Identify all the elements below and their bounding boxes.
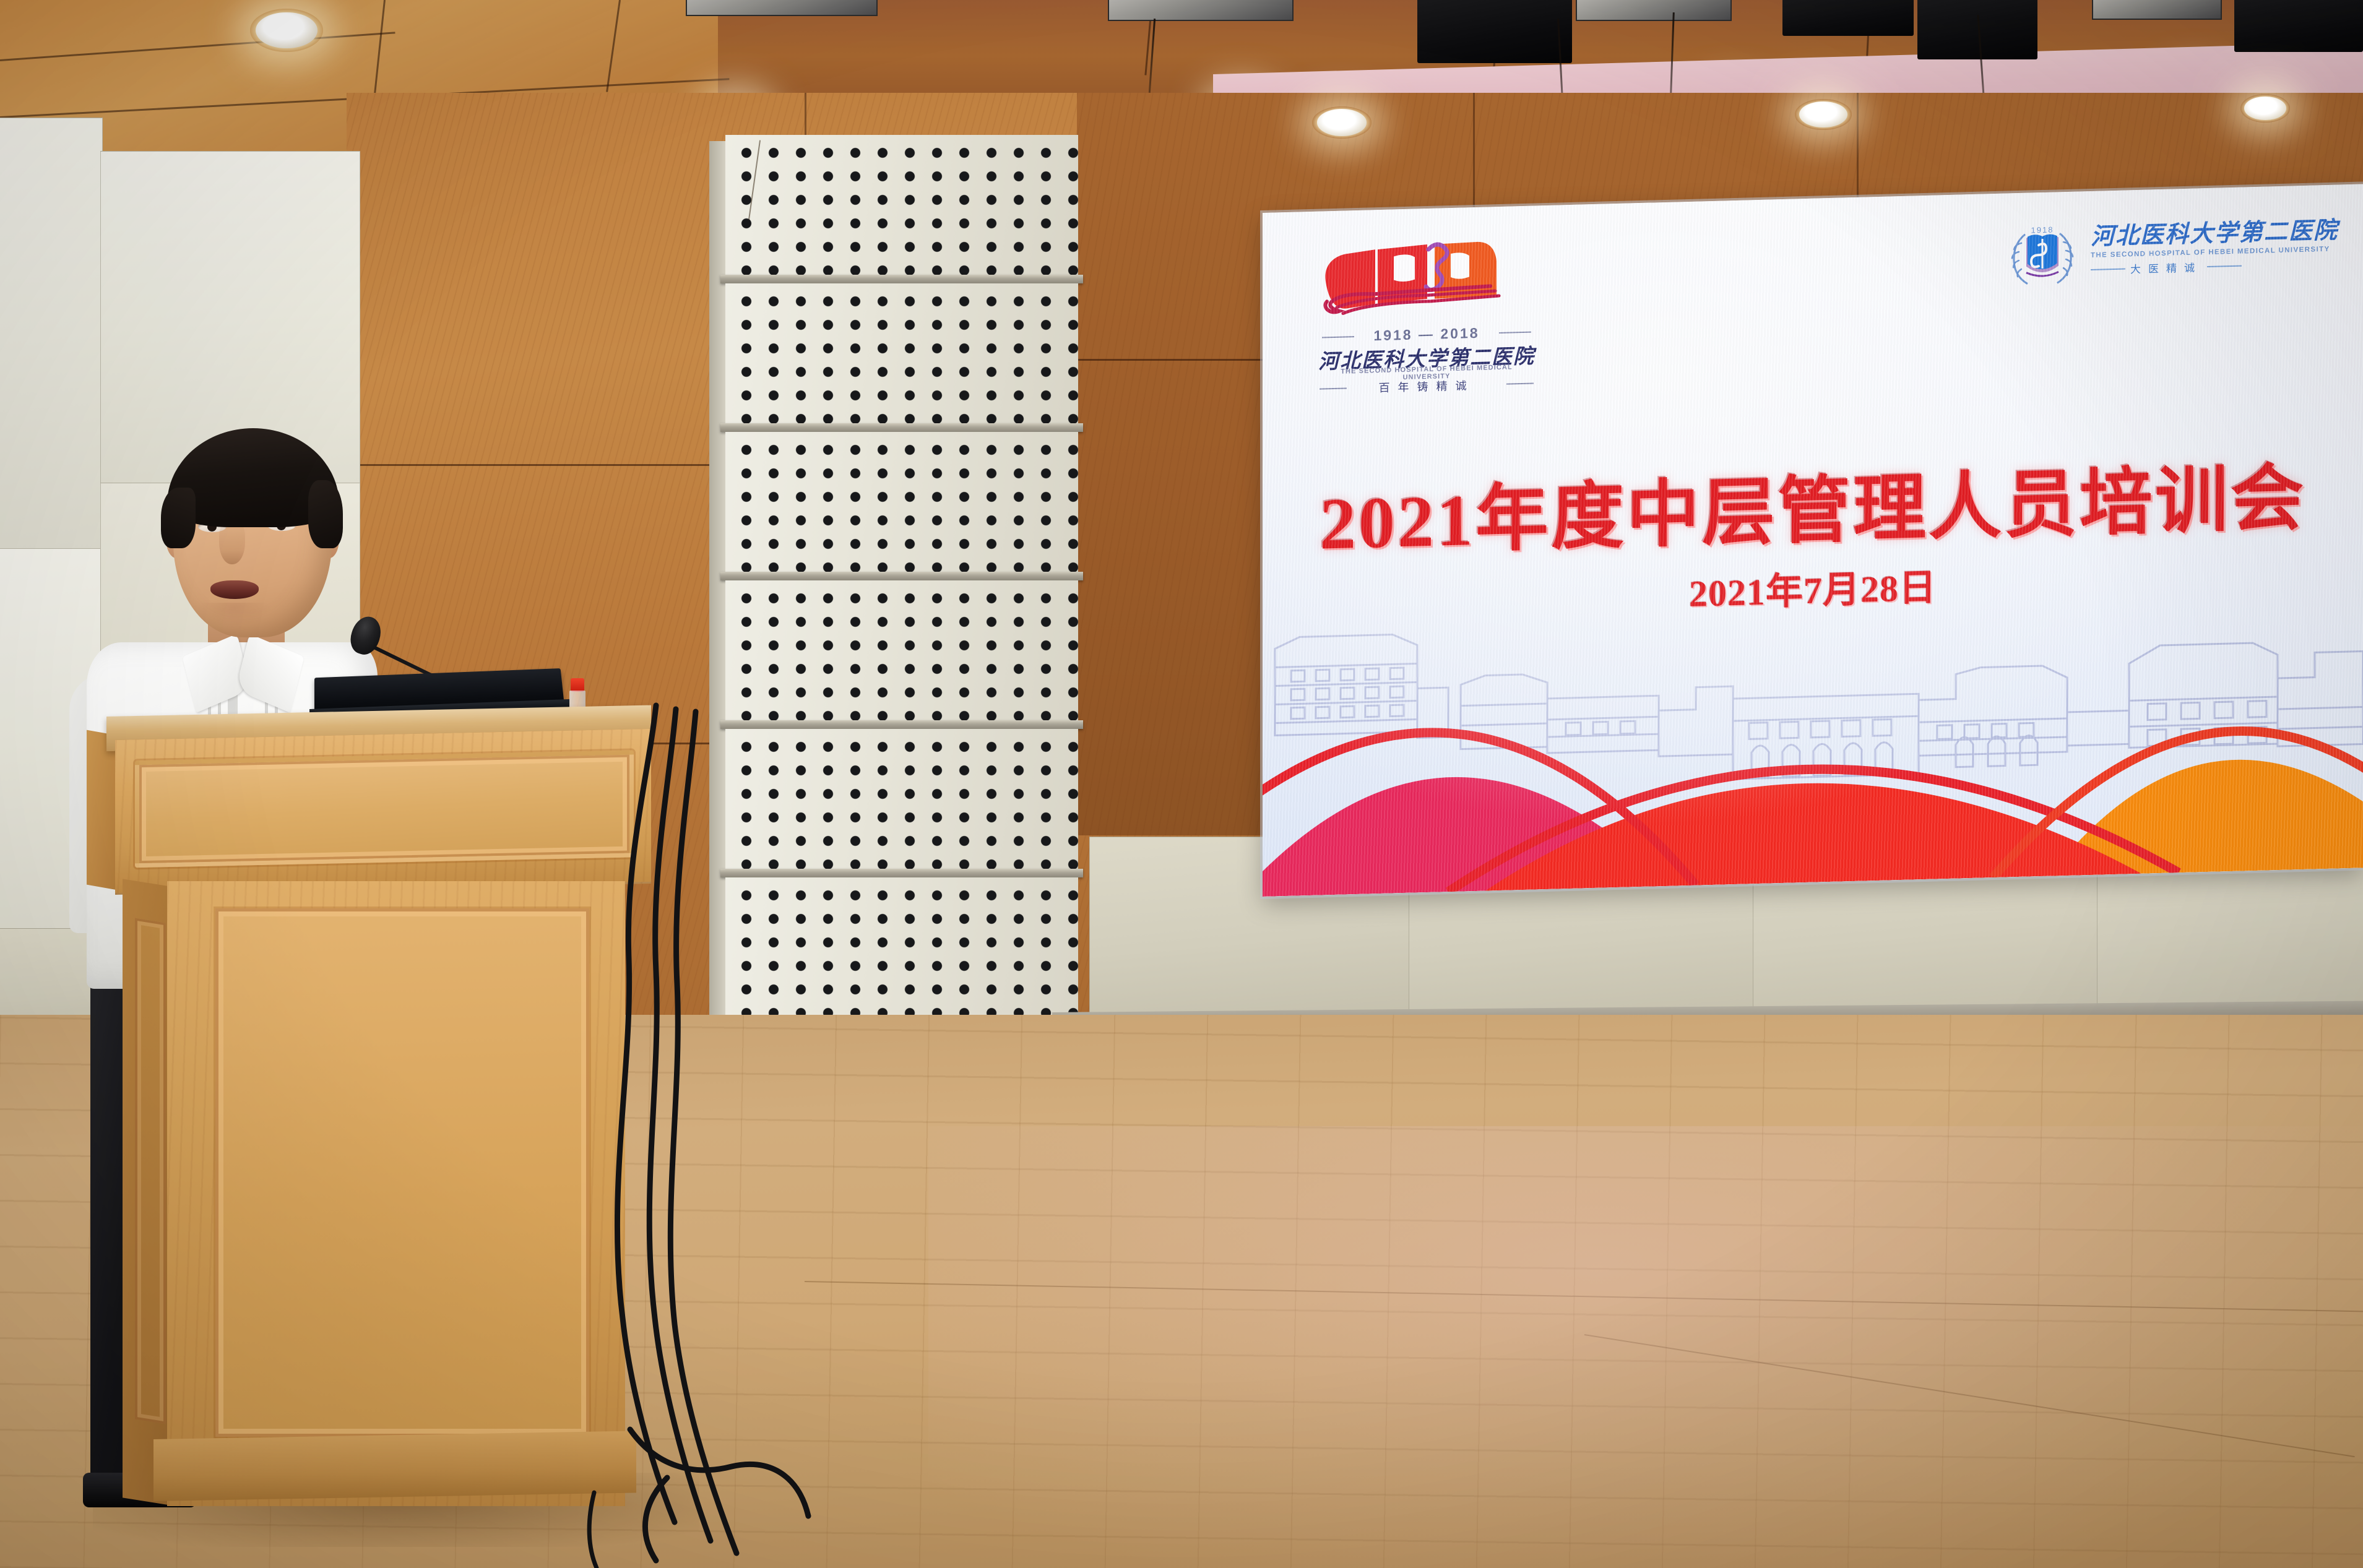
hospital-motto: 大医精诚 [2091,258,2242,277]
soffit-downlight [1795,99,1852,130]
crest-year: 1918 [2031,225,2054,235]
projector-housing [1576,0,1732,21]
hanging-speaker [2234,0,2363,52]
hospital-logo: 1918 河北医科大学第二医院 THE SECOND HOSPITAL OF H… [2008,207,2338,291]
speaker-mouth [210,580,259,599]
decorative-arcs [1263,601,2363,897]
speaker-chin [197,603,271,627]
acoustic-panel [725,135,1078,276]
floor-cables [0,699,866,1568]
projector-housing [686,0,878,16]
hanging-speaker [1917,0,2037,59]
speaker-hair-side [308,480,343,548]
acoustic-panel [725,432,1078,573]
soffit-downlight [1312,106,1372,139]
projection-screen: 1918 — 2018 河北医科大学第二医院 THE SECOND HOSPIT… [1263,184,2363,897]
hanging-speaker [1782,0,1914,36]
hospital-crest-icon: 1918 [2008,217,2077,288]
projector-housing [2092,0,2222,20]
open-book-100-icon [1318,230,1535,329]
acoustic-panel-trim [720,423,1083,432]
bottle-cap [571,678,584,692]
anniversary-logo: 1918 — 2018 河北医科大学第二医院 THE SECOND HOSPIT… [1318,230,1535,403]
conference-hall-photo: 1918 — 2018 河北医科大学第二医院 THE SECOND HOSPIT… [0,0,2363,1568]
hanging-speaker [1417,0,1572,63]
projector-housing [1108,0,1294,21]
hospital-org-cn: 河北医科大学第二医院 [2091,219,2338,250]
acoustic-panel-trim [720,572,1083,580]
ceiling-downlight [250,9,323,52]
presentation-slide: 1918 — 2018 河北医科大学第二医院 THE SECOND HOSPIT… [1263,184,2363,897]
soffit-downlight [2240,94,2290,123]
acoustic-panel [725,283,1078,424]
acoustic-panel-trim [720,275,1083,283]
